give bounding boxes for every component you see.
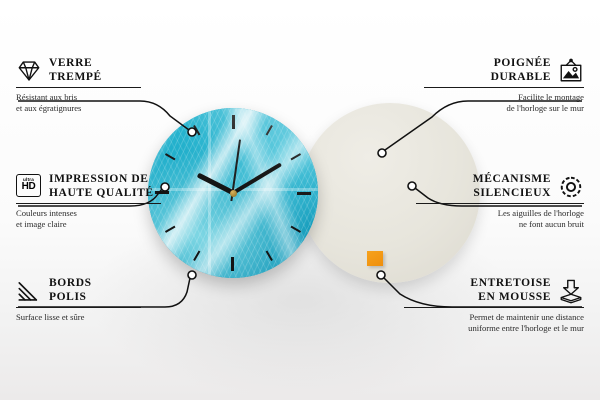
connector-dot-entretoise [377, 271, 385, 279]
infographic-canvas: VERRETREMPÉ Résistant aux briset aux égr… [0, 0, 600, 400]
feature-title: MÉCANISMESILENCIEUX [473, 173, 551, 200]
feature-description: Couleurs intenseset image claire [16, 208, 176, 229]
feature-rule [16, 87, 141, 88]
ultra-hd-icon: ultra HD [16, 174, 42, 200]
feature-title: POIGNÉEDURABLE [491, 57, 551, 84]
gear-icon [558, 174, 584, 200]
feature-title: ENTRETOISEEN MOUSSE [470, 277, 551, 304]
ultra-hd-main-label: HD [22, 182, 36, 192]
feature-description: Facilite le montagede l'horloge sur le m… [424, 92, 584, 113]
feature-title: VERRETREMPÉ [49, 57, 102, 84]
feature-poignee-durable[interactable]: POIGNÉEDURABLE Facilite le montagede l'h… [424, 57, 584, 114]
feature-description: Permet de maintenir une distanceuniforme… [404, 312, 584, 333]
diamond-icon [16, 58, 42, 84]
polished-edge-icon [16, 278, 42, 304]
feature-rule [16, 203, 161, 204]
feature-title: BORDSPOLIS [49, 277, 92, 304]
feature-description: Les aiguilles de l'horlogene font aucun … [416, 208, 584, 229]
feature-impression-haute-qualite[interactable]: ultra HD IMPRESSION DEHAUTE QUALITÉ Coul… [16, 173, 176, 230]
connector-dot-mecanisme [408, 182, 416, 190]
feature-rule [416, 203, 584, 204]
feature-title: IMPRESSION DEHAUTE QUALITÉ [49, 173, 154, 200]
feature-rule [16, 307, 141, 308]
connector-dot-bords-polis [188, 271, 196, 279]
picture-hanger-icon [558, 58, 584, 84]
feature-verre-trempe[interactable]: VERRETREMPÉ Résistant aux briset aux égr… [16, 57, 166, 114]
connector-dot-verre-trempe [188, 128, 196, 136]
feature-entretoise-en-mousse[interactable]: ENTRETOISEEN MOUSSE Permet de maintenir … [404, 277, 584, 334]
feature-bords-polis[interactable]: BORDSPOLIS Surface lisse et sûre [16, 277, 166, 323]
feature-mecanisme-silencieux[interactable]: MÉCANISMESILENCIEUX Les aiguilles de l'h… [416, 173, 584, 230]
feature-description: Résistant aux briset aux égratignures [16, 92, 166, 113]
foam-spacer-icon [558, 278, 584, 304]
connector-dot-poignee [378, 149, 386, 157]
feature-description: Surface lisse et sûre [16, 312, 166, 323]
feature-rule [404, 307, 584, 308]
feature-rule [424, 87, 584, 88]
